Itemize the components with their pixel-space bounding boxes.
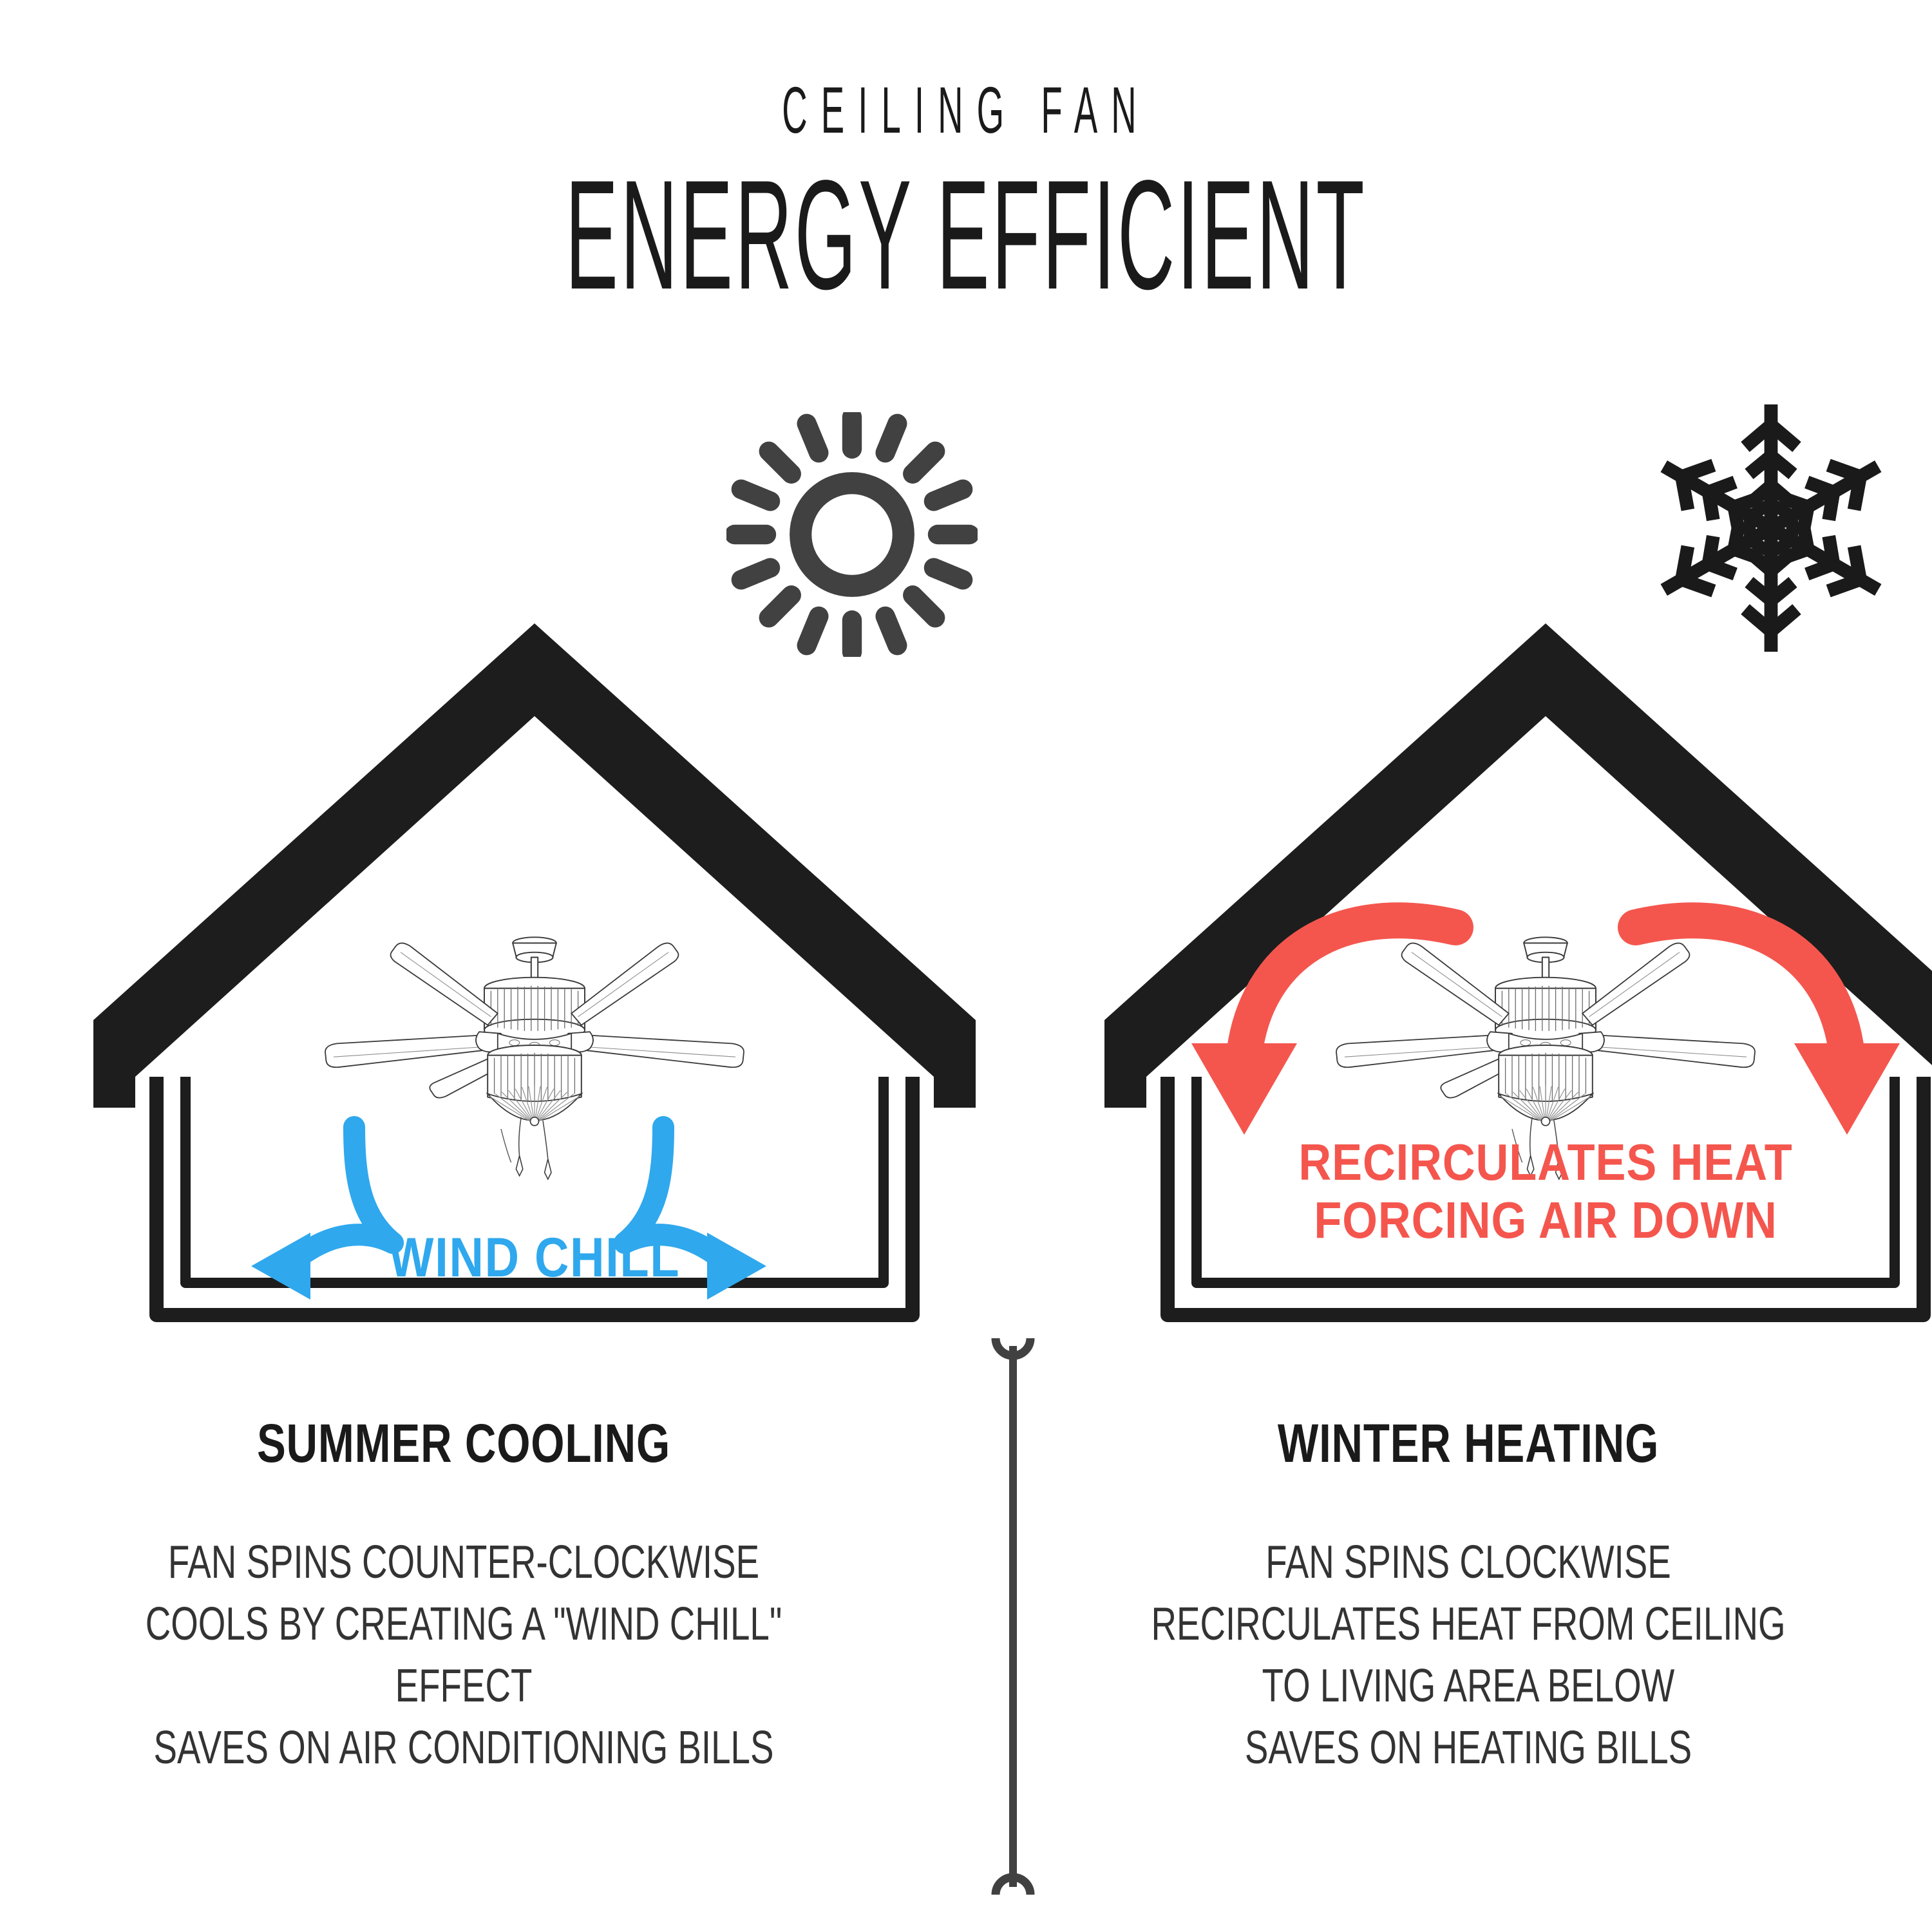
title-headline: ENERGY EFFICIENT — [386, 153, 1546, 317]
inhouse-label-recirculates-heat: RECIRCULATES HEAT FORCING AIR DOWN — [1149, 1133, 1932, 1249]
body-line: FAN SPINS CLOCKWISE — [1126, 1532, 1811, 1594]
inhouse-label-wind-chill: WIND CHILL — [147, 1227, 922, 1289]
page-title: CEILING FAN ENERGY EFFICIENT — [0, 77, 1932, 292]
inhouse-label-line2: FORCING AIR DOWN — [1149, 1191, 1932, 1249]
body-line: SAVES ON AIR CONDITIONING BILLS — [121, 1718, 806, 1779]
heading-winter-heating: WINTER HEATING — [1108, 1414, 1829, 1473]
infographic-canvas: CEILING FAN ENERGY EFFICIENT — [0, 0, 1932, 1932]
title-kicker: CEILING FAN — [367, 77, 1565, 143]
heading-summer-cooling: SUMMER COOLING — [103, 1414, 824, 1473]
body-line: RECIRCULATES HEAT FROM CEILING TO LIVING… — [1126, 1594, 1811, 1718]
body-line: SAVES ON HEATING BILLS — [1126, 1718, 1811, 1779]
ceiling-fan-icon — [325, 937, 744, 1179]
body-line: FAN SPINS COUNTER-CLOCKWISE — [121, 1532, 806, 1594]
column-summer: SUMMER COOLING FAN SPINS COUNTER-CLOCKWI… — [13, 1414, 914, 1779]
column-winter: WINTER HEATING FAN SPINS CLOCKWISE RECIR… — [1018, 1414, 1919, 1779]
body-winter: FAN SPINS CLOCKWISE RECIRCULATES HEAT FR… — [1126, 1532, 1811, 1779]
body-summer: FAN SPINS COUNTER-CLOCKWISE COOLS BY CRE… — [121, 1532, 806, 1779]
inhouse-label-line1: RECIRCULATES HEAT — [1149, 1133, 1932, 1191]
body-line: COOLS BY CREATING A "WIND CHILL" EFFECT — [121, 1594, 806, 1718]
